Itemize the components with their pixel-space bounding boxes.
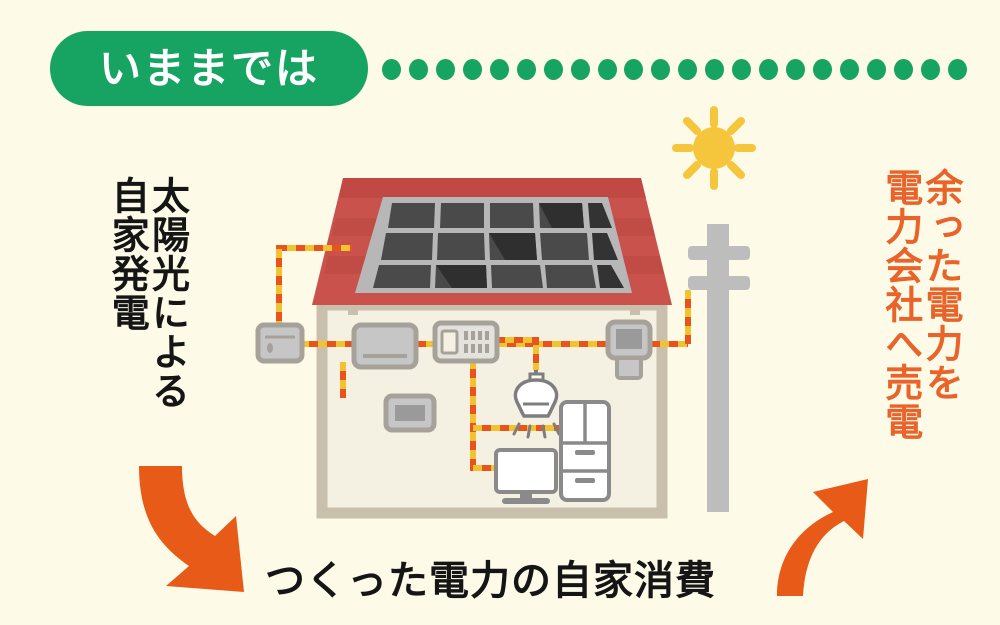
left-annotation-line-1: 太陽光による <box>146 176 186 410</box>
sell-power-arrow <box>777 479 868 596</box>
left-annotation-line-2: 自家発電 <box>106 176 146 332</box>
utility-pole <box>688 224 750 512</box>
solar-panel-array <box>355 197 632 293</box>
right-annotation-line-1: 余った電力を <box>920 168 960 402</box>
left-annotation: 太陽光による 自家発電 <box>106 176 187 410</box>
right-annotation-line-2: 電力会社へ売電 <box>879 168 919 441</box>
right-annotation: 余った電力を 電力会社へ売電 <box>879 168 960 441</box>
distribution-board <box>435 323 497 361</box>
power-conditioner-outdoor <box>258 325 302 361</box>
bottom-caption: つくった電力の自家消費 <box>265 548 716 606</box>
power-conditioner-indoor <box>354 325 416 367</box>
refrigerator <box>561 402 609 500</box>
self-consumption-arrow <box>139 466 244 592</box>
sun-icon <box>676 110 752 186</box>
monitor-display <box>386 396 434 430</box>
infographic-canvas: いままでは <box>0 0 1000 625</box>
